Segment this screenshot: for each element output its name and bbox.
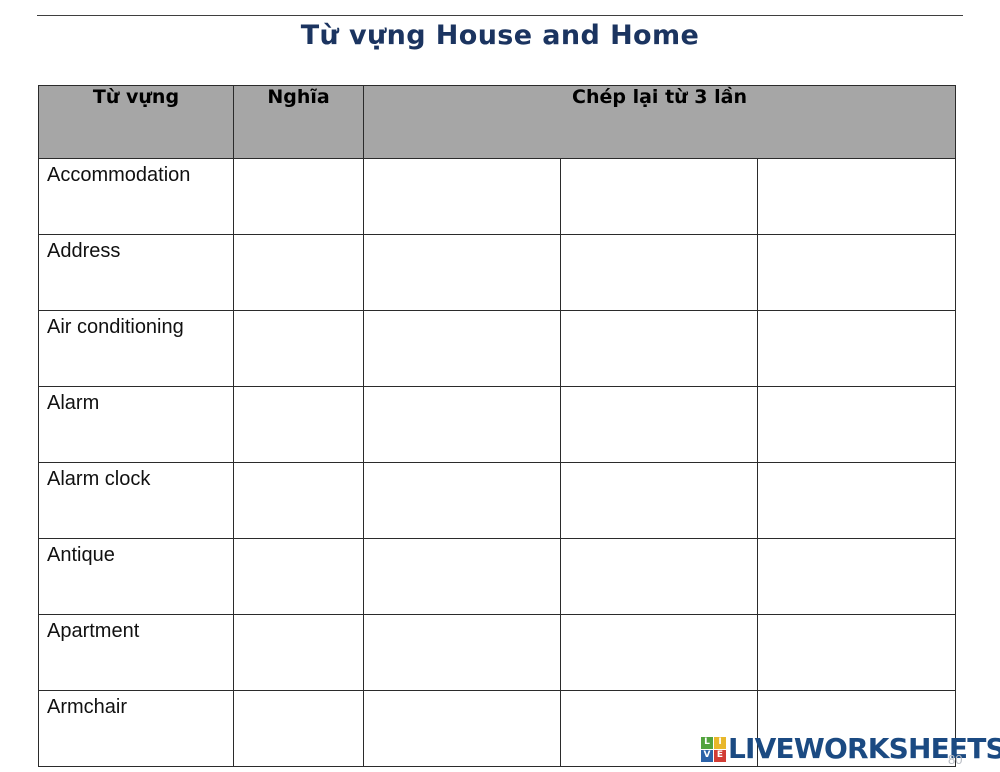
logo-letter-v: V — [701, 750, 713, 762]
table-header-row: Từ vựng Nghĩa Chép lại từ 3 lần — [39, 86, 956, 159]
copy-input-cell[interactable] — [561, 235, 758, 311]
meaning-input-cell[interactable] — [234, 463, 364, 539]
logo-letter-e: E — [714, 750, 726, 762]
copy-input-cell[interactable] — [758, 159, 956, 235]
copy-input-cell[interactable] — [364, 615, 561, 691]
copy-input-cell[interactable] — [561, 539, 758, 615]
header-divider — [37, 15, 963, 16]
table-row: Antique — [39, 539, 956, 615]
copy-input-cell[interactable] — [364, 463, 561, 539]
table-body: AccommodationAddressAir conditioningAlar… — [39, 159, 956, 767]
vocabulary-table: Từ vựng Nghĩa Chép lại từ 3 lần Accommod… — [38, 85, 956, 767]
meaning-input-cell[interactable] — [234, 539, 364, 615]
logo-letter-l: L — [701, 737, 713, 749]
column-header-copy: Chép lại từ 3 lần — [364, 86, 956, 159]
copy-input-cell[interactable] — [364, 235, 561, 311]
meaning-input-cell[interactable] — [234, 387, 364, 463]
page-title: Từ vựng House and Home — [0, 20, 1000, 51]
meaning-input-cell[interactable] — [234, 235, 364, 311]
table-row: Address — [39, 235, 956, 311]
copy-input-cell[interactable] — [758, 463, 956, 539]
table-row: Apartment — [39, 615, 956, 691]
copy-input-cell[interactable] — [561, 387, 758, 463]
vocabulary-word-cell: Alarm clock — [39, 463, 234, 539]
copy-input-cell[interactable] — [364, 539, 561, 615]
copy-input-cell[interactable] — [364, 387, 561, 463]
copy-input-cell[interactable] — [758, 615, 956, 691]
table-row: Accommodation — [39, 159, 956, 235]
meaning-input-cell[interactable] — [234, 615, 364, 691]
vocabulary-word-cell: Antique — [39, 539, 234, 615]
copy-input-cell[interactable] — [561, 159, 758, 235]
column-header-vocabulary: Từ vựng — [39, 86, 234, 159]
copy-input-cell[interactable] — [364, 311, 561, 387]
vocabulary-word-cell: Apartment — [39, 615, 234, 691]
vocabulary-word-cell: Alarm — [39, 387, 234, 463]
meaning-input-cell[interactable] — [234, 159, 364, 235]
copy-input-cell[interactable] — [758, 311, 956, 387]
logo-letter-i: I — [714, 737, 726, 749]
column-header-meaning: Nghĩa — [234, 86, 364, 159]
worksheet-page: Từ vựng House and Home Từ vựng Nghĩa Ché… — [0, 0, 1000, 772]
vocabulary-word-cell: Accommodation — [39, 159, 234, 235]
copy-input-cell[interactable] — [758, 387, 956, 463]
vocabulary-word-cell: Armchair — [39, 691, 234, 767]
page-number-watermark: 80 — [948, 752, 962, 767]
meaning-input-cell[interactable] — [234, 311, 364, 387]
copy-input-cell[interactable] — [561, 463, 758, 539]
copy-input-cell[interactable] — [364, 159, 561, 235]
copy-input-cell[interactable] — [561, 311, 758, 387]
copy-input-cell[interactable] — [758, 235, 956, 311]
meaning-input-cell[interactable] — [234, 691, 364, 767]
table-row: Alarm clock — [39, 463, 956, 539]
table-row: Air conditioning — [39, 311, 956, 387]
vocabulary-word-cell: Air conditioning — [39, 311, 234, 387]
copy-input-cell[interactable] — [364, 691, 561, 767]
liveworksheets-logo-icon: L I V E — [701, 737, 726, 762]
copy-input-cell[interactable] — [758, 539, 956, 615]
table-row: Alarm — [39, 387, 956, 463]
copy-input-cell[interactable] — [561, 615, 758, 691]
table-header: Từ vựng Nghĩa Chép lại từ 3 lần — [39, 86, 956, 159]
vocabulary-word-cell: Address — [39, 235, 234, 311]
